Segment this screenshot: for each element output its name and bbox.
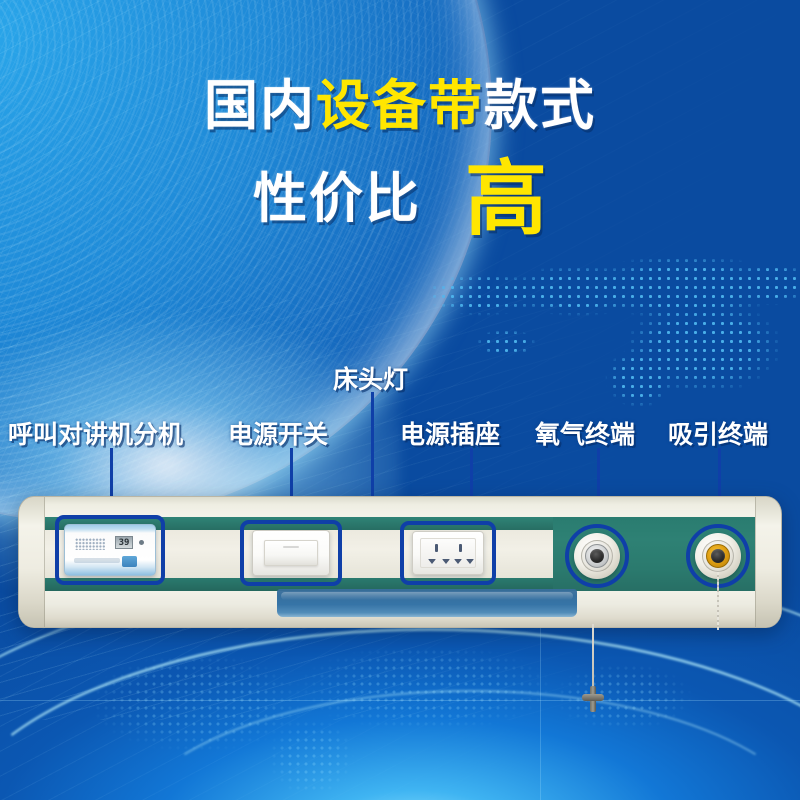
suction-terminal-port-icon [711,549,725,563]
callout-label-suction-outlet: 吸引终端 [668,415,768,451]
socket-pin-icon [435,544,438,552]
callout-label-oxygen-outlet: 氧气终端 [535,415,635,451]
callout-label-power-socket: 电源插座 [400,415,500,451]
callout-layer: 床头灯 呼叫对讲机分机 电源开关 电源插座 氧气终端 吸引终端 [0,0,800,800]
power-socket-device[interactable] [412,531,484,575]
socket-pin-icon [459,544,462,552]
oxygen-terminal-device[interactable] [574,533,620,579]
socket-pin-icon [442,559,450,564]
intercom-call-button[interactable] [122,556,137,567]
panel-end-cap-left [19,497,45,627]
nurse-call-intercom-device[interactable]: 39 [64,524,156,576]
indicator-led-icon [139,540,144,545]
lamp-pull-cord[interactable] [592,624,594,692]
product-banner: 国内设备带款式 性价比高 床头灯 呼叫对讲机分机 电源开关 电源插座 氧气终端 … [0,0,800,800]
oxygen-terminal-port-icon [590,549,604,563]
lamp-diffuser-strip [277,589,577,617]
callout-label-power-switch: 电源开关 [228,415,328,451]
pull-cord-handle-icon[interactable] [582,686,604,712]
suction-terminal-wire [717,572,719,630]
speaker-grille-icon [75,538,105,550]
callout-label-bedside-lamp: 床头灯 [333,360,408,396]
rocker-switch-icon[interactable] [264,540,318,566]
intercom-display: 39 [115,536,133,549]
callout-label-nurse-call: 呼叫对讲机分机 [8,415,183,451]
intercom-slot [74,558,120,563]
power-switch-device[interactable] [252,530,330,576]
socket-pin-icon [466,559,474,564]
socket-pin-icon [454,559,462,564]
socket-pin-icon [428,559,436,564]
panel-end-cap-right [755,497,781,627]
socket-faceplate [420,538,476,568]
